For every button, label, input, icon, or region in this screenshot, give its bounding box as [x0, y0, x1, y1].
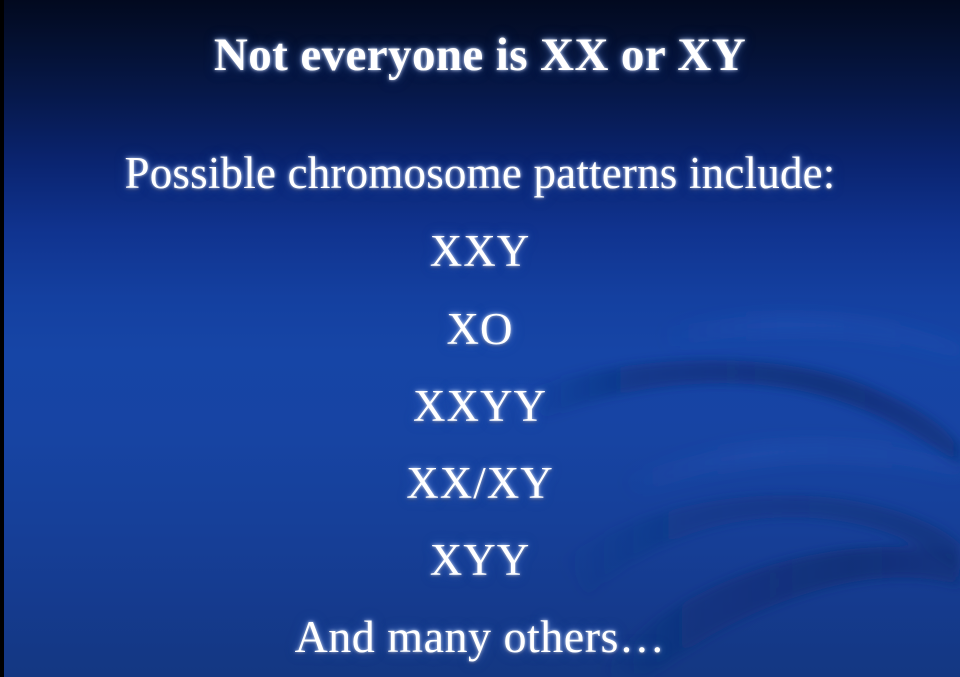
- slide-content: Not everyone is XX or XY Possible chromo…: [0, 0, 960, 677]
- slide-subtitle: Possible chromosome patterns include:: [0, 147, 960, 199]
- left-edge-bar: [0, 0, 4, 677]
- chromosome-pattern-item: XXYY: [0, 380, 960, 432]
- chromosome-pattern-item: XO: [0, 303, 960, 355]
- slide-title: Not everyone is XX or XY: [0, 28, 960, 82]
- presentation-slide: Not everyone is XX or XY Possible chromo…: [0, 0, 960, 677]
- chromosome-pattern-item: XXY: [0, 225, 960, 277]
- chromosome-pattern-item: XX/XY: [0, 457, 960, 509]
- slide-closing-text: And many others…: [0, 610, 960, 663]
- chromosome-pattern-item: XYY: [0, 534, 960, 586]
